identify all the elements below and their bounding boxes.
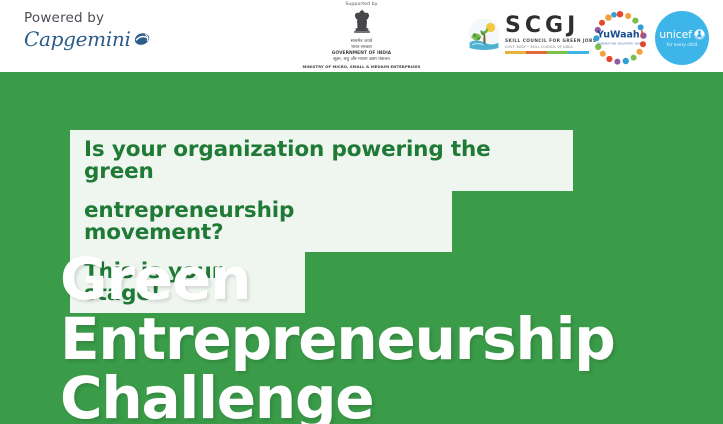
scgj-letter-j: J <box>567 15 575 37</box>
yuwaah-exclamation: ! <box>640 30 644 41</box>
powered-by-label: Powered by <box>24 10 174 26</box>
scgj-tagline: SKILL COUNCIL FOR GREEN JOBS <box>505 39 596 44</box>
hero-body: Is your organization powering the green … <box>0 72 723 424</box>
capgemini-swirl-icon <box>134 32 150 46</box>
yuwaah-tagline: GENERATION UNLIMITED INDIA <box>597 42 643 46</box>
scgj-text-block: S C G J SKILL COUNCIL FOR GREEN JOBS GOV… <box>505 15 596 54</box>
page-title: Green Entrepreneurship Challenge <box>60 250 615 424</box>
unicef-wordmark: unicef <box>659 29 692 40</box>
unicef-mother-child-icon <box>694 29 705 40</box>
partner-logo-bar: Powered by Capgemini Supported by <box>0 0 723 72</box>
capgemini-wordmark: Capgemini <box>24 29 131 49</box>
page-title-line-1: Green <box>60 250 615 310</box>
goi-ministry-english: MINISTRY OF MICRO, SMALL & MEDIUM ENTERP… <box>272 64 452 70</box>
india-state-emblem-icon <box>272 9 452 39</box>
scgj-logo-block: S C G J SKILL COUNCIL FOR GREEN JOBS GOV… <box>468 15 596 54</box>
scgj-color-swatches <box>505 51 589 54</box>
hero-subheading-line-2: entrepreneurship movement? <box>70 191 452 252</box>
hero-subheading-line-1: Is your organization powering the green <box>70 130 573 191</box>
capgemini-wordmark-row: Capgemini <box>24 29 174 49</box>
scgj-tree-sun-water-icon <box>468 18 500 50</box>
scgj-letter-c: C <box>525 15 541 37</box>
scgj-subtagline: GOVT. BODY • SKILL COUNCIL OF INDIA <box>505 45 596 49</box>
yuwaah-label: YuWaah! GENERATION UNLIMITED INDIA <box>597 31 643 46</box>
capgemini-logo-block: Powered by Capgemini <box>24 10 174 49</box>
unicef-tagline: for every child <box>667 42 698 47</box>
page-title-line-3: Challenge <box>60 369 615 424</box>
page-title-line-2: Entrepreneurship <box>60 310 615 370</box>
unicef-wordmark-row: unicef <box>659 29 705 40</box>
scgj-letter-g: G <box>545 15 563 37</box>
poster-canvas: Powered by Capgemini Supported by <box>0 0 723 424</box>
scgj-letter-s: S <box>505 15 521 37</box>
scgj-letters: S C G J <box>505 15 596 37</box>
goi-text-lines: सत्यमेव जयते भारत सरकार GOVERNMENT OF IN… <box>272 39 452 69</box>
yuwaah-wordmark: YuWaah! <box>597 31 643 41</box>
unicef-logo-block: unicef for every child <box>655 11 709 65</box>
supported-by-label: Supported by <box>272 2 452 8</box>
government-of-india-block: Supported by <box>272 2 452 69</box>
yuwaah-logo-block: YuWaah! GENERATION UNLIMITED INDIA <box>592 10 648 66</box>
yuwaah-word-text: YuWaah <box>597 30 640 41</box>
